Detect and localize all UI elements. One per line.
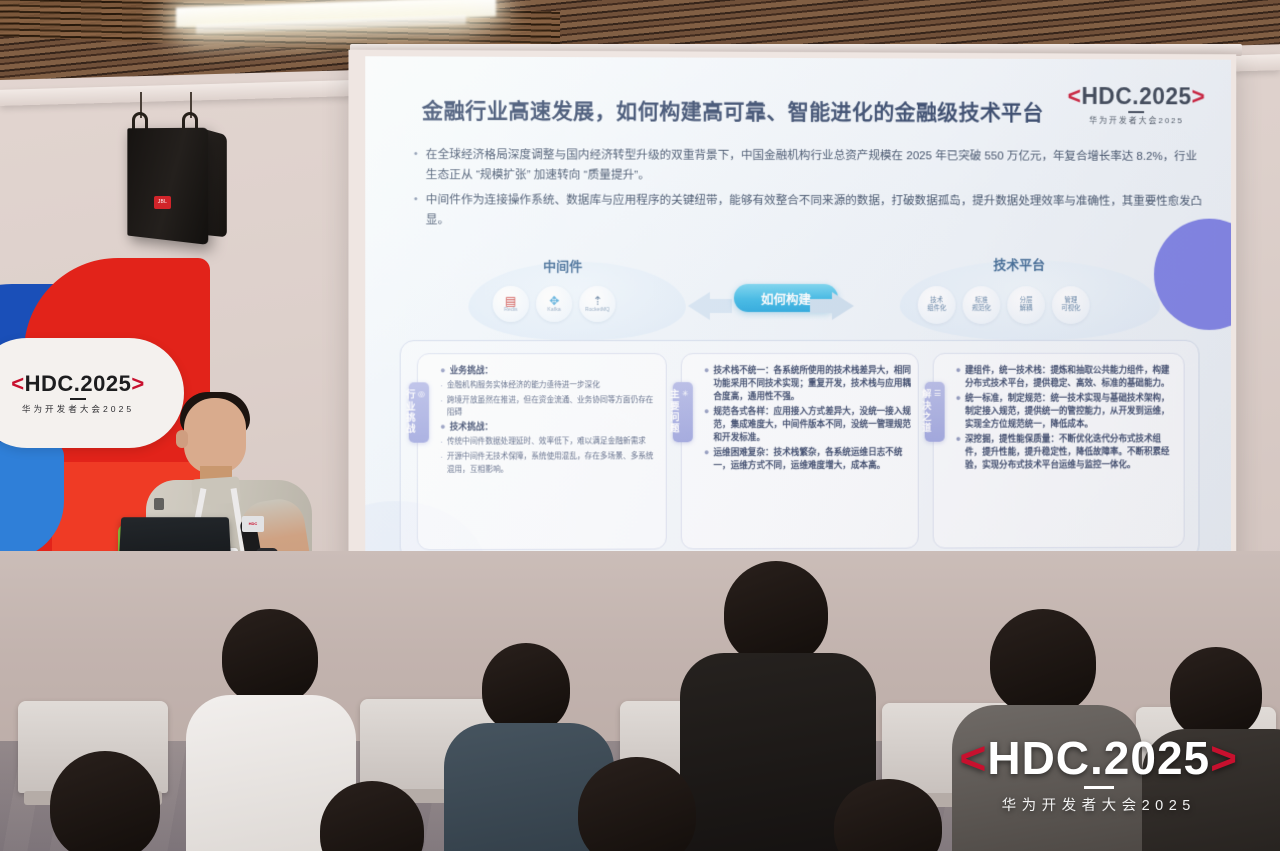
- angle-right-icon: >: [1210, 732, 1238, 784]
- slide-cards-panel: ◎行业挑战 ●业务挑战： ·金融机构服务实体经济的能力亟待进一步深化 ·跨境开放…: [400, 340, 1200, 562]
- audience-head: [834, 779, 942, 851]
- card-tab-main-problems: ✳主要问题: [673, 382, 693, 442]
- list-item-text: 深挖掘，提性能保质量：不断优化迭代分布式技术组件，提升性能，提升稳定性，降低故障…: [965, 432, 1178, 471]
- kafka-icon: ✥: [549, 295, 559, 307]
- bullet-marker-icon: ·: [440, 394, 443, 419]
- list-item: ·开源中间件无技术保障，系统使用混乱，存在多场景、多系统混用，互相影响。: [440, 451, 660, 476]
- angle-left-icon: <: [1068, 83, 1082, 109]
- tech-chip-2: 标准规范化: [963, 286, 1001, 324]
- audience-head: [578, 757, 696, 851]
- presentation-slide: 金融行业高速发展，如何构建高可靠、智能进化的金融级技术平台 <HDC.2025>…: [365, 56, 1231, 592]
- card-tab-industry-challenges: ◎行业挑战: [409, 382, 429, 442]
- list-item-text: 运维困难复杂：技术栈繁杂，各系统运维日志不统一，运维方式不同，运维难度增大，成本…: [713, 446, 911, 472]
- audience-head: [222, 609, 318, 705]
- corner-brand-underscore: [1084, 786, 1114, 789]
- list-item-text: 跨境开放虽然在推进，但在资金流通、业务协同等方面仍存在阻碍: [447, 394, 660, 419]
- list-item: ●技术挑战：: [440, 421, 660, 434]
- corner-brand-subtitle: 华为开发者大会2025: [959, 794, 1238, 815]
- card-solutions: ☰解决之道 ●建组件，统一技术栈：提炼和抽取公共能力组件，构建分布式技术平台，提…: [933, 353, 1185, 549]
- slide-hdc-underscore: [1129, 111, 1145, 113]
- corner-brand-text: HDC.2025: [987, 732, 1210, 784]
- card-tab-solutions: ☰解决之道: [925, 382, 945, 441]
- list-item-text: 传统中间件数据处理延时、效率低下，难以满足金融新需求: [447, 436, 646, 449]
- card-industry-challenges: ◎行业挑战 ●业务挑战： ·金融机构服务实体经济的能力亟待进一步深化 ·跨境开放…: [417, 353, 667, 550]
- bullet-marker-icon: ·: [440, 379, 443, 392]
- audience-head: [1170, 647, 1262, 739]
- bullet-text: 在全球经济格局深度调整与国内经济转型升级的双重背景下，中国金融机构行业总资产规模…: [426, 145, 1204, 187]
- presenter-ear: [176, 430, 188, 448]
- bullet-marker-icon: ●: [704, 405, 709, 444]
- tech-platform-label: 技术平台: [993, 254, 1045, 273]
- angle-left-icon: <: [959, 732, 987, 784]
- audience-member: [560, 757, 740, 851]
- redis-chip: ▤Redis: [493, 286, 529, 322]
- bullet-marker-icon: ·: [440, 451, 443, 476]
- middleware-label: 中间件: [543, 256, 582, 275]
- bullet-marker-icon: ●: [704, 446, 709, 472]
- card-tab-label: 主要问题: [669, 389, 680, 435]
- arrow-right-icon: [832, 292, 854, 320]
- bullet-text: 中间件作为连接操作系统、数据库与应用程序的关键纽带，能够有效整合不同来源的数据，…: [426, 190, 1204, 231]
- list-item: ●建组件，统一技术栈：提炼和抽取公共能力组件，构建分布式技术平台，提供稳定、高效…: [956, 364, 1178, 390]
- redis-label: Redis: [504, 307, 517, 313]
- conference-photo-scene: JBL 金融行业高速发展，如何构建高可靠、智能进化的金融级技术平台 <HDC.2…: [0, 0, 1280, 851]
- rocketmq-chip: ⇡RocketMQ: [579, 286, 615, 322]
- tech-chip-4-l2: 可视化: [1061, 305, 1080, 313]
- arrow-left-icon: [688, 292, 710, 320]
- list-item: ●深挖掘，提性能保质量：不断优化迭代分布式技术组件，提升性能，提升稳定性，降低故…: [956, 432, 1178, 471]
- slide-bullet-list: • 在全球经济格局深度调整与国内经济转型升级的双重背景下，中国金融机构行业总资产…: [414, 145, 1204, 237]
- angle-right-icon: >: [1192, 83, 1206, 109]
- kafka-chip: ✥Kafka: [536, 286, 572, 322]
- bullet-dot-icon: •: [414, 190, 418, 230]
- tech-platform-chip-row: 技术组件化 标准规范化 分层解耦 管理可视化: [918, 286, 1090, 324]
- angle-left-icon: <: [11, 371, 24, 396]
- list-item-text: 业务挑战：: [450, 364, 493, 377]
- list-item-text: 开源中间件无技术保障，系统使用混乱，存在多场景、多系统混用，互相影响。: [447, 451, 660, 476]
- tech-chip-2-l1: 标准: [975, 297, 988, 305]
- bullet-marker-icon: ●: [704, 364, 709, 403]
- tech-chip-4-l1: 管理: [1064, 297, 1077, 305]
- audience-head: [320, 781, 424, 851]
- slide-hdc-subtitle: 华为开发者大会2025: [1068, 115, 1206, 126]
- bullet-dot-icon: •: [414, 145, 418, 185]
- slide-title: 金融行业高速发展，如何构建高可靠、智能进化的金融级技术平台: [422, 95, 1063, 127]
- redis-icon: ▤: [505, 295, 516, 307]
- bullet-marker-icon: ●: [440, 421, 445, 434]
- list-item: ·跨境开放虽然在推进，但在资金流通、业务协同等方面仍存在阻碍: [440, 394, 660, 419]
- bullet-marker-icon: ·: [440, 436, 443, 449]
- tech-chip-3: 分层解耦: [1007, 286, 1045, 324]
- slide-flow-diagram: 中间件 ▤Redis ✥Kafka ⇡RocketMQ 如何构建 技术平台 技术…: [400, 256, 1200, 345]
- tech-chip-1-l1: 技术: [930, 297, 943, 305]
- target-icon: ◎: [417, 389, 426, 432]
- card-body-main-problems: ●技术栈不统一：各系统所使用的技术栈差异大，相同功能采用不同技术实现；重复开发，…: [704, 364, 912, 474]
- rocketmq-icon: ⇡: [592, 295, 602, 307]
- audience-member: [300, 781, 470, 851]
- list-item-text: 建组件，统一技术栈：提炼和抽取公共能力组件，构建分布式技术平台，提供稳定、高效、…: [965, 364, 1178, 390]
- list-item: ·传统中间件数据处理延时、效率低下，难以满足金融新需求: [440, 436, 660, 449]
- list-item: ·金融机构服务实体经济的能力亟待进一步深化: [440, 379, 660, 392]
- tech-chip-1-l2: 组件化: [927, 305, 946, 313]
- slide-hdc-logo: <HDC.2025> 华为开发者大会2025: [1068, 83, 1206, 126]
- list-icon: ☰: [933, 389, 942, 431]
- card-body-industry-challenges: ●业务挑战： ·金融机构服务实体经济的能力亟待进一步深化 ·跨境开放虽然在推进，…: [440, 364, 660, 478]
- slide-hdc-wordmark: <HDC.2025>: [1068, 83, 1206, 110]
- bullet-marker-icon: ●: [956, 433, 961, 472]
- audience-head: [50, 751, 160, 851]
- list-item: ●规范各式各样：应用接入方式差异大，没统一接入规范，集成难度大，中间件版本不同，…: [704, 405, 912, 444]
- bullet-marker-icon: ●: [956, 364, 961, 390]
- audience-member: [20, 751, 200, 851]
- list-item: ●业务挑战：: [440, 364, 660, 377]
- list-item-text: 技术挑战：: [450, 421, 493, 434]
- backdrop-underscore: [70, 398, 86, 400]
- presenter-shirt-logo: [154, 498, 164, 510]
- slide-hdc-text: HDC.2025: [1081, 83, 1191, 109]
- list-item: ●技术栈不统一：各系统所使用的技术栈差异大，相同功能采用不同技术实现；重复开发，…: [704, 364, 912, 403]
- backdrop-text: HDC.2025: [25, 371, 132, 396]
- middleware-chip-row: ▤Redis ✥Kafka ⇡RocketMQ: [493, 286, 616, 322]
- presenter-head: [184, 398, 246, 474]
- audience-head: [482, 643, 570, 733]
- list-item-text: 规范各式各样：应用接入方式差异大，没统一接入规范，集成难度大，中间件版本不同，没…: [713, 405, 911, 444]
- jbl-logo: JBL: [154, 196, 171, 209]
- tech-chip-1: 技术组件化: [918, 286, 956, 324]
- list-item-text: 金融机构服务实体经济的能力亟待进一步深化: [447, 379, 600, 392]
- list-item: ●运维困难复杂：技术栈繁杂，各系统运维日志不统一，运维方式不同，运维难度增大，成…: [704, 446, 912, 472]
- bullet-item: • 中间件作为连接操作系统、数据库与应用程序的关键纽带，能够有效整合不同来源的数…: [414, 190, 1204, 231]
- rocketmq-label: RocketMQ: [585, 307, 610, 313]
- sparkle-icon: ✳: [681, 389, 690, 432]
- corner-hdc-brand: <HDC.2025> 华为开发者大会2025: [959, 732, 1238, 815]
- bullet-marker-icon: ●: [440, 364, 445, 377]
- audience-head: [990, 609, 1096, 715]
- card-tab-label: 行业挑战: [405, 389, 416, 435]
- tech-chip-2-l2: 规范化: [972, 305, 991, 313]
- tech-chip-4: 管理可视化: [1052, 286, 1090, 324]
- hanging-speaker: JBL: [118, 92, 244, 248]
- list-item-text: 技术栈不统一：各系统所使用的技术栈差异大，相同功能采用不同技术实现；重复开发，技…: [713, 364, 911, 403]
- bullet-marker-icon: ●: [956, 392, 961, 431]
- audience-head: [724, 561, 828, 665]
- card-body-solutions: ●建组件，统一技术栈：提炼和抽取公共能力组件，构建分布式技术平台，提供稳定、高效…: [956, 364, 1178, 474]
- backdrop-subtitle: 华为开发者大会2025: [22, 403, 134, 415]
- corner-brand-wordmark: <HDC.2025>: [959, 732, 1238, 784]
- tech-chip-3-l1: 分层: [1020, 297, 1033, 305]
- backdrop-wordmark: <HDC.2025>: [11, 371, 144, 397]
- kafka-label: Kafka: [547, 307, 560, 313]
- card-tab-label: 解决之道: [921, 389, 932, 434]
- speaker-body: [127, 128, 208, 245]
- card-main-problems: ✳主要问题 ●技术栈不统一：各系统所使用的技术栈差异大，相同功能采用不同技术实现…: [681, 353, 919, 549]
- tech-chip-3-l2: 解耦: [1020, 305, 1033, 313]
- bullet-item: • 在全球经济格局深度调整与国内经济转型升级的双重背景下，中国金融机构行业总资产…: [414, 145, 1204, 187]
- list-item-text: 统一标准，制定规范：统一技术实现与基础技术架构，制定接入规范，提供统一的管控能力…: [965, 392, 1178, 431]
- microphone-flag: HDC: [242, 516, 264, 532]
- list-item: ●统一标准，制定规范：统一技术实现与基础技术架构，制定接入规范，提供统一的管控能…: [956, 392, 1178, 431]
